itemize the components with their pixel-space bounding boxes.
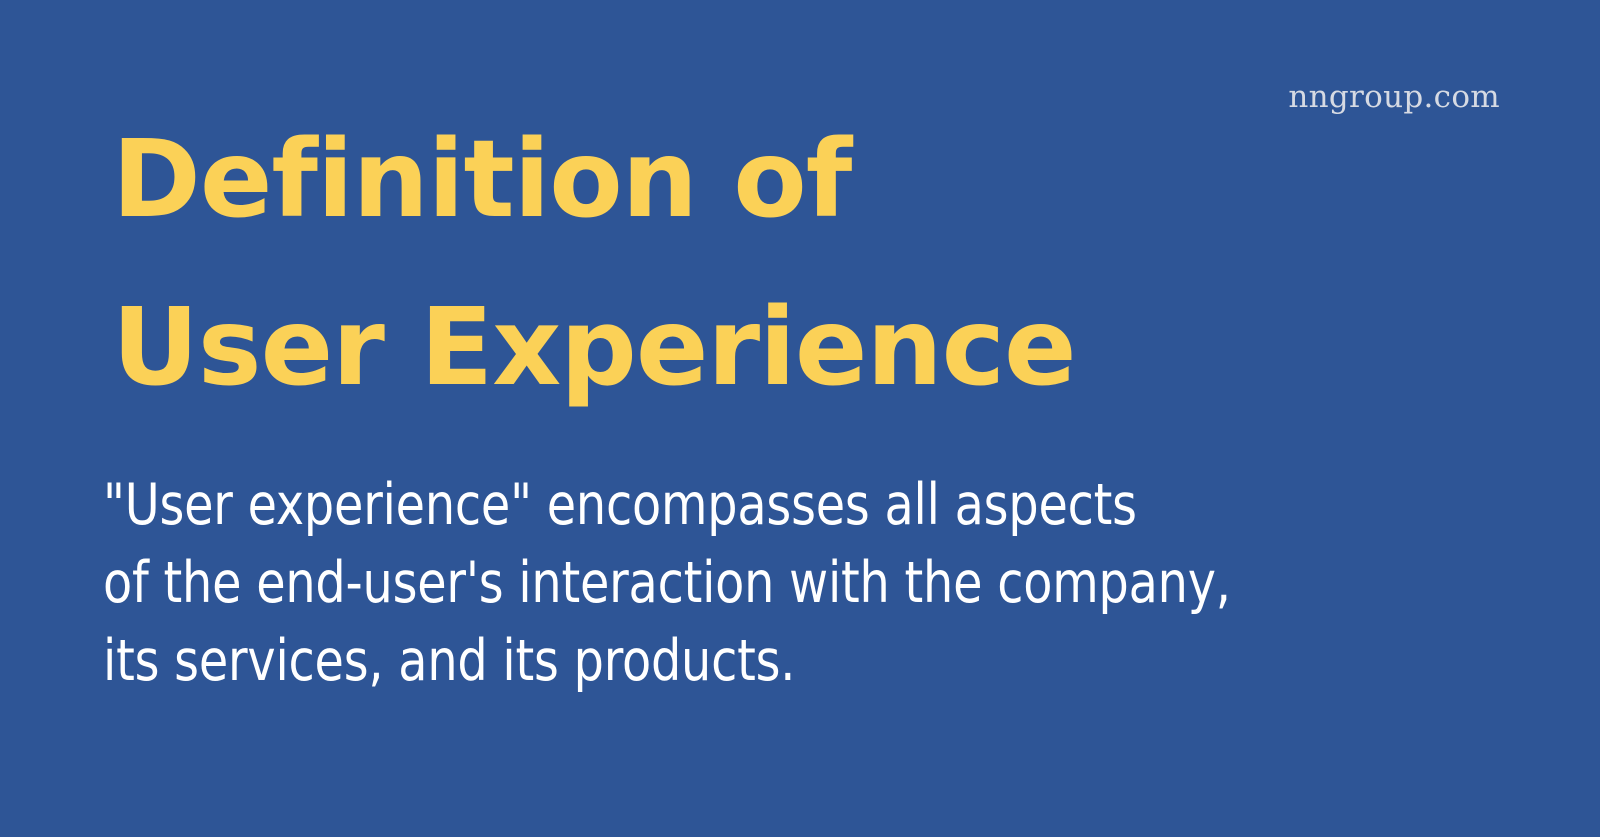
page-title-line-1: Definition of [112,96,1262,264]
body-line-3: its services, and its products. [103,622,1405,700]
brand-block: nngroup.com NN/g [1280,0,1600,280]
page-title: Definition of User Experience [112,96,1262,432]
page-title-line-2: User Experience [112,264,1262,432]
brand-website-url: nngroup.com [1280,80,1500,114]
body-line-1: "User experience" encompasses all aspect… [103,466,1405,544]
body-paragraph: "User experience" encompasses all aspect… [103,466,1503,700]
body-line-2: of the end-user's interaction with the c… [103,544,1405,622]
slide-canvas: nngroup.com NN/g Definition of User Expe… [0,0,1600,837]
